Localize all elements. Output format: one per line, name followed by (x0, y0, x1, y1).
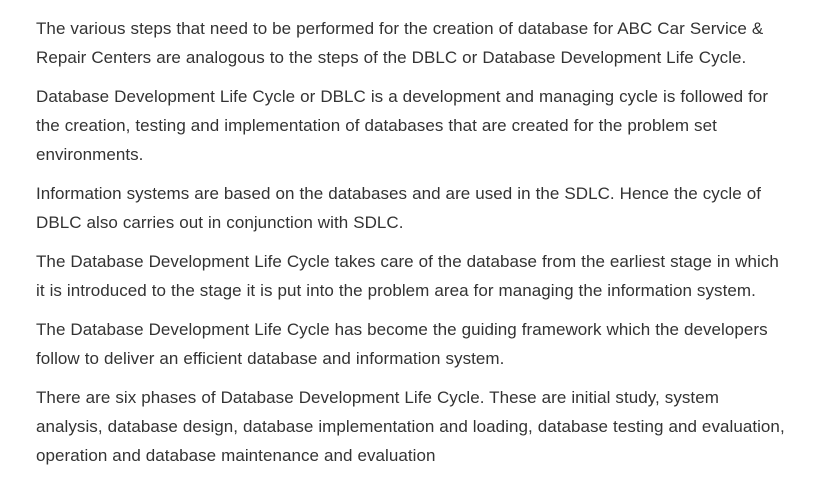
document-body: The various steps that need to be perfor… (0, 0, 813, 501)
paragraph-dblc-lifecycle-scope: The Database Development Life Cycle take… (36, 247, 785, 305)
paragraph-dblc-steps-analogy: The various steps that need to be perfor… (36, 14, 785, 72)
paragraph-dblc-guiding-framework: The Database Development Life Cycle has … (36, 315, 785, 373)
paragraph-dblc-six-phases: There are six phases of Database Develop… (36, 383, 785, 470)
paragraph-dblc-definition: Database Development Life Cycle or DBLC … (36, 82, 785, 169)
paragraph-information-systems-sdlc: Information systems are based on the dat… (36, 179, 785, 237)
